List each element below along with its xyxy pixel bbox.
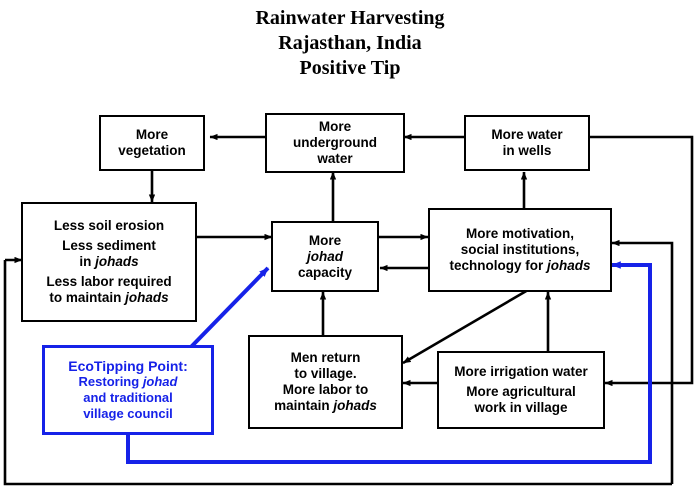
node-line: johad [307,249,343,265]
node-line: in johads [62,254,156,270]
node-line: water [317,151,352,167]
node-line: capacity [298,265,352,281]
node-men-return-to-village[interactable]: Men return to village. More labor to mai… [248,335,403,429]
node-line: More irrigation water [454,364,588,380]
node-line: More [136,127,168,143]
node-line: Less labor required [46,274,171,290]
node-line: More labor to [283,382,369,398]
node-more-vegetation[interactable]: More vegetation [99,115,205,171]
node-line: More [319,119,351,135]
node-more-underground-water[interactable]: More underground water [265,113,405,173]
node-line: vegetation [118,143,186,159]
node-less-soil-erosion[interactable]: Less soil erosion Less sediment in johad… [21,202,197,322]
node-line: underground [293,135,377,151]
node-line: More water [491,127,562,143]
node-line: to maintain johads [46,290,171,306]
node-line: to village. [294,366,356,382]
node-line: work in village [466,400,576,416]
node-more-johad-capacity[interactable]: More johad capacity [271,221,379,292]
node-line: Less soil erosion [54,218,164,234]
node-line: village council [83,406,173,422]
node-line: More [309,233,341,249]
node-line: Less sediment [62,238,156,254]
node-line: social institutions, [461,242,580,258]
node-more-water-in-wells[interactable]: More water in wells [464,115,590,171]
node-more-motivation[interactable]: More motivation, social institutions, te… [428,208,612,292]
node-more-irrigation-water[interactable]: More irrigation water More agricultural … [437,351,605,429]
node-line: and traditional [83,390,173,406]
node-ecotipping-point[interactable]: EcoTipping Point: Restoring johad and tr… [42,345,214,435]
node-line: technology for johads [449,258,590,274]
node-line: Men return [291,350,361,366]
node-line: More agricultural [466,384,576,400]
node-line: maintain johads [274,398,377,414]
node-line: More motivation, [466,226,574,242]
node-line: Restoring johad [79,374,178,390]
diagram-canvas: Rainwater Harvesting Rajasthan, India Po… [0,0,700,504]
node-line: in wells [503,143,552,159]
node-line: EcoTipping Point: [68,358,188,374]
edge-loop-into-motivation [612,243,672,484]
